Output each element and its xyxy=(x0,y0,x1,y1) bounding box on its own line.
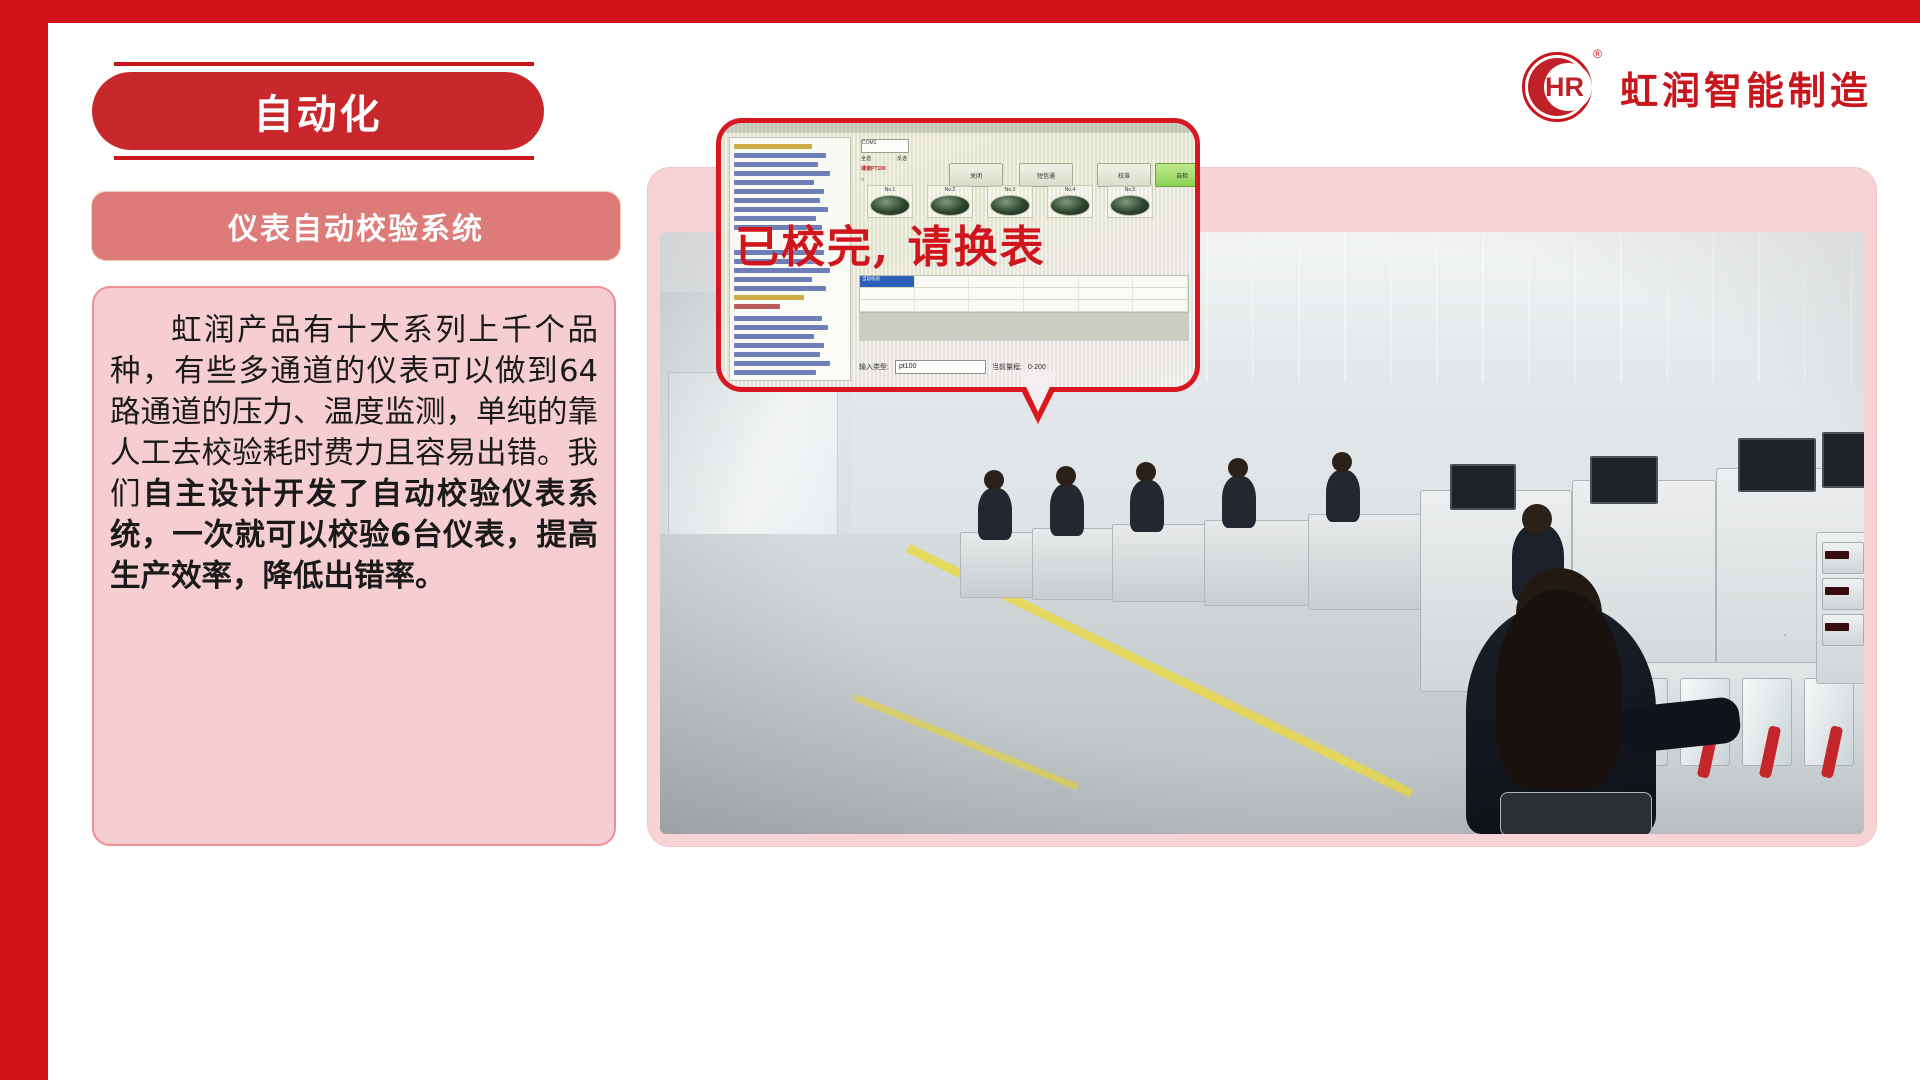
photo-worker xyxy=(978,488,1012,540)
table-cell[interactable]: 当前校验 xyxy=(860,276,915,287)
auto-save-checkbox[interactable]: □ xyxy=(861,177,864,183)
list-item[interactable] xyxy=(734,180,814,185)
software-screenshot: COM1 全选 反选 通道PT100 □ 关闭 短信通 校准 自检 No.1 N… xyxy=(721,123,1195,387)
table-cell xyxy=(1024,288,1079,299)
photo-worker-head xyxy=(1228,458,1248,478)
list-item[interactable] xyxy=(734,316,822,321)
photo-monitor xyxy=(1738,438,1816,492)
photo-instrument xyxy=(1822,614,1864,646)
table-cell xyxy=(860,288,915,299)
list-item[interactable] xyxy=(734,198,820,203)
photo-worker-head xyxy=(1136,462,1156,482)
list-item[interactable] xyxy=(734,144,812,149)
gauge-label: No.2 xyxy=(929,187,971,193)
log-area xyxy=(859,313,1189,341)
list-item[interactable] xyxy=(734,162,818,167)
left-content-column: 自动化 仪表自动校验系统 虹润产品有十大系列上千个品种，有些多通道的仪表可以做到… xyxy=(92,62,632,846)
list-item[interactable] xyxy=(734,370,816,375)
table-cell xyxy=(860,300,915,311)
photo-monitor xyxy=(1590,456,1658,504)
table-row[interactable] xyxy=(860,300,1188,312)
input-type-label: 输入类型: xyxy=(859,362,889,372)
table-row[interactable]: 当前校验 xyxy=(860,276,1188,288)
photo-worker xyxy=(1050,484,1084,536)
photo-instrument xyxy=(1822,578,1864,610)
list-item[interactable] xyxy=(734,277,812,282)
list-item[interactable] xyxy=(734,343,824,348)
hr-circle-icon: HR ® xyxy=(1522,48,1600,126)
table-cell xyxy=(915,288,970,299)
photo-workbench xyxy=(1204,520,1318,606)
brand-logo: HR ® 虹润智能制造 xyxy=(1522,48,1872,126)
body-text-card: 虹润产品有十大系列上千个品种，有些多通道的仪表可以做到64路通道的压力、温度监测… xyxy=(92,286,616,846)
button-sms[interactable]: 短信通 xyxy=(1019,163,1073,187)
range-value: 0-200 xyxy=(1028,364,1046,371)
photo-instrument xyxy=(1784,634,1786,636)
section-title-text: 自动化 xyxy=(254,82,383,140)
photo-instrument xyxy=(1822,542,1864,574)
table-cell xyxy=(1133,276,1188,287)
photo-led-display xyxy=(1825,551,1848,559)
invert-select-checkbox[interactable]: 反选 xyxy=(897,155,907,162)
photo-worker-head xyxy=(984,470,1004,490)
table-cell xyxy=(1133,288,1188,299)
photo-led-display xyxy=(1825,623,1848,631)
slide-root: 自动化 仪表自动校验系统 虹润产品有十大系列上千个品种，有些多通道的仪表可以做到… xyxy=(0,0,1920,1080)
subtitle-text: 仪表自动校验系统 xyxy=(228,204,484,248)
left-red-bar xyxy=(0,0,48,1080)
photo-worker xyxy=(1222,476,1256,528)
registered-trademark-icon: ® xyxy=(1593,47,1602,61)
list-item[interactable] xyxy=(734,171,830,176)
list-item[interactable] xyxy=(734,352,820,357)
table-cell xyxy=(1024,300,1079,311)
table-cell xyxy=(915,276,970,287)
list-item[interactable] xyxy=(734,325,828,330)
list-item[interactable] xyxy=(734,361,830,366)
photo-worker-head xyxy=(1332,452,1352,472)
port-select[interactable]: COM1 xyxy=(861,139,909,153)
brand-name: 虹润智能制造 xyxy=(1620,60,1872,115)
gauge-label: No.4 xyxy=(1049,187,1091,193)
range-label: 当前量程: xyxy=(992,362,1022,372)
list-item[interactable] xyxy=(734,153,826,158)
table-cell xyxy=(969,276,1024,287)
photo-workbench xyxy=(1112,524,1218,602)
photo-monitor xyxy=(1822,432,1864,488)
photo-led-display xyxy=(1825,587,1848,595)
table-cell xyxy=(1079,300,1134,311)
results-table[interactable]: 当前校验 xyxy=(859,275,1189,313)
photo-worker-head xyxy=(1522,504,1552,534)
photo-stool xyxy=(1500,792,1652,834)
list-item[interactable] xyxy=(734,286,826,291)
select-all-checkbox[interactable]: 全选 xyxy=(861,155,871,162)
table-cell xyxy=(1024,276,1079,287)
section-title-pill: 自动化 xyxy=(92,72,544,150)
table-cell xyxy=(1079,276,1134,287)
title-rule-top xyxy=(114,62,534,66)
table-cell xyxy=(1133,300,1188,311)
photo-foreground-worker-hair xyxy=(1496,590,1622,790)
list-item[interactable] xyxy=(734,304,780,309)
top-red-bar xyxy=(0,0,1920,23)
calibration-status-message: 已校完, 请换表 xyxy=(735,211,1183,275)
table-cell xyxy=(915,300,970,311)
input-type-select[interactable]: pt100 xyxy=(895,360,986,374)
table-row[interactable] xyxy=(860,288,1188,300)
button-calibrate[interactable]: 校准 xyxy=(1097,163,1151,187)
photo-worker-head xyxy=(1056,466,1076,486)
gauge-label: No.5 xyxy=(1109,187,1151,193)
screen-title-bar xyxy=(721,123,1195,133)
body-paragraph: 虹润产品有十大系列上千个品种，有些多通道的仪表可以做到64路通道的压力、温度监测… xyxy=(110,310,598,597)
channel-highlight-label: 通道PT100 xyxy=(861,165,886,172)
list-item[interactable] xyxy=(734,189,824,194)
callout-tail-fill xyxy=(1019,372,1057,412)
software-callout: COM1 全选 反选 通道PT100 □ 关闭 短信通 校准 自检 No.1 N… xyxy=(716,118,1200,392)
list-item[interactable] xyxy=(734,295,804,300)
title-rule-bottom xyxy=(114,156,534,160)
table-cell xyxy=(1079,288,1134,299)
logo-hr-text: HR xyxy=(1545,74,1597,101)
photo-workbench xyxy=(1308,514,1434,610)
subtitle-bar: 仪表自动校验系统 xyxy=(92,192,620,260)
table-cell xyxy=(969,300,1024,311)
button-selftest[interactable]: 自检 xyxy=(1155,163,1195,187)
list-item[interactable] xyxy=(734,334,814,339)
photo-worker xyxy=(1326,470,1360,522)
button-close[interactable]: 关闭 xyxy=(949,163,1003,187)
photo-monitor xyxy=(1450,464,1516,510)
gauge-label: No.3 xyxy=(989,187,1031,193)
photo-worker xyxy=(1130,480,1164,532)
gauge-label: No.1 xyxy=(869,187,911,193)
body-bold-text: 自主设计开发了自动校验仪表系统，一次就可以校验6台仪表，提高生产效率，降低出错率… xyxy=(110,477,598,594)
table-cell xyxy=(969,288,1024,299)
